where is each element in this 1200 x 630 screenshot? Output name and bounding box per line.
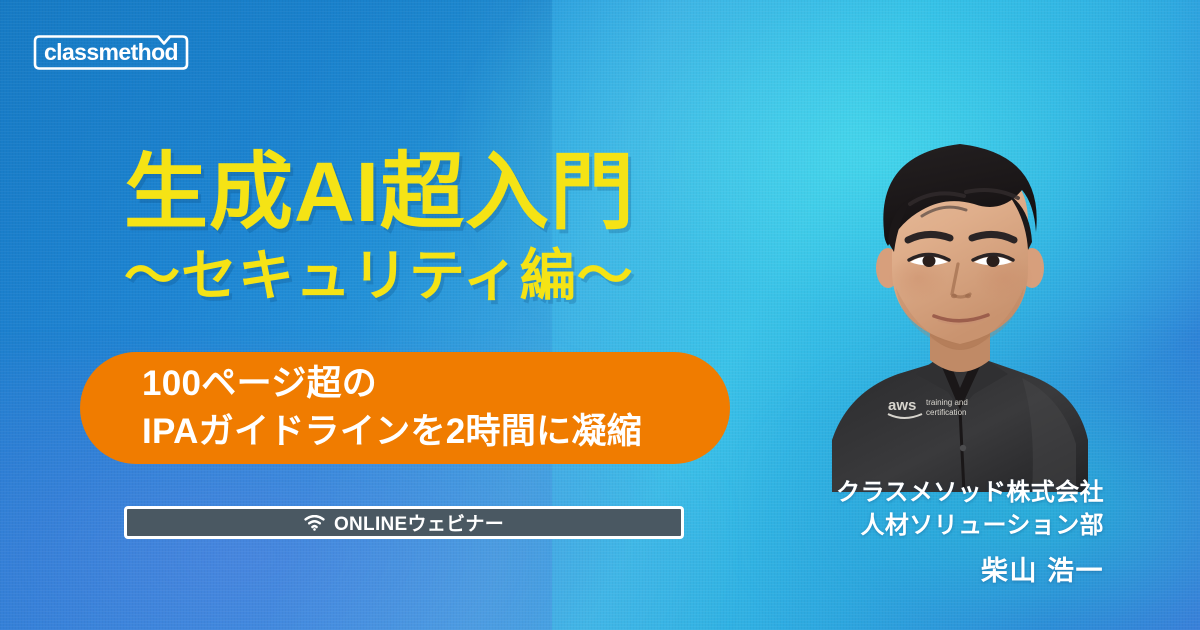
wifi-icon [304,515,325,531]
webinar-banner: classmethod 生成AI超入門 〜セキュリティ編〜 100ページ超の I… [0,0,1200,630]
headline-block: 生成AI超入門 〜セキュリティ編〜 [124,150,824,304]
speaker-portrait: aws training and certification [826,92,1094,492]
svg-text:aws: aws [888,397,916,414]
svg-text:certification: certification [926,408,966,417]
online-webinar-bar: ONLINEウェビナー [124,506,684,539]
speaker-portrait-image: aws training and certification [826,92,1094,492]
speaker-department: 人材ソリューション部 [836,509,1104,542]
highlight-line-1: 100ページ超の [142,360,730,408]
headline-main-title: 生成AI超入門 [124,150,824,234]
classmethod-logo[interactable]: classmethod [32,34,190,71]
online-webinar-label: ONLINEウェビナー [334,509,504,536]
highlight-pill: 100ページ超の IPAガイドラインを2時間に凝縮 [80,352,730,464]
speaker-company: クラスメソッド株式会社 [836,476,1104,509]
svg-text:training and: training and [926,398,968,407]
highlight-line-2: IPAガイドラインを2時間に凝縮 [142,408,730,456]
classmethod-logo-text: classmethod [32,34,190,71]
speaker-name: 柴山 浩一 [836,554,1104,589]
speaker-info: クラスメソッド株式会社 人材ソリューション部 柴山 浩一 [836,476,1104,589]
headline-subtitle: 〜セキュリティ編〜 [124,248,824,304]
